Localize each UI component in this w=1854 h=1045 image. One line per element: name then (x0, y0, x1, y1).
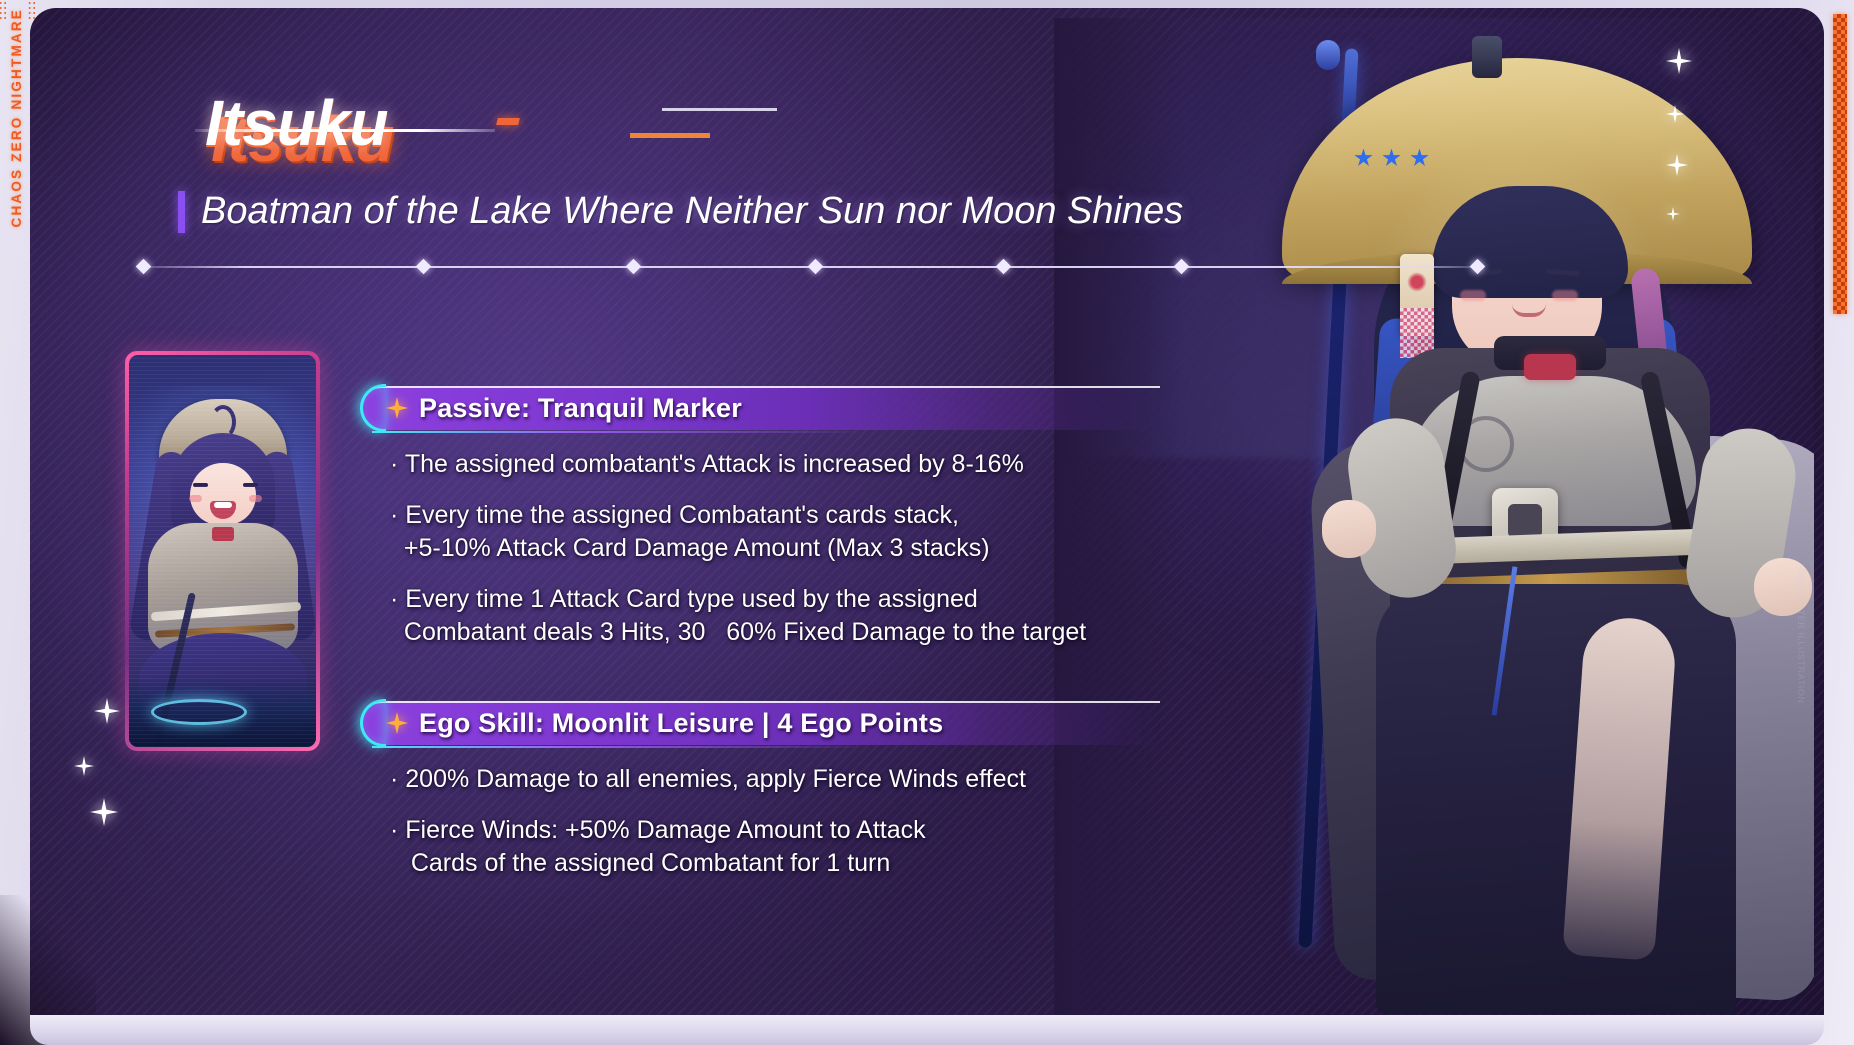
title-strike-line (195, 129, 495, 132)
title-decorative-rules (630, 108, 777, 138)
character-bow (1524, 354, 1576, 380)
character-skirt (1376, 584, 1736, 1014)
sparkle-icon (74, 756, 94, 776)
artwork-watermark: CHARACTER ILLUSTRATION (1796, 568, 1806, 704)
skills-spacer (360, 667, 1160, 701)
divider-diamond (136, 259, 152, 275)
skill-description-ego: · 200% Damage to all enemies, apply Fier… (360, 749, 1160, 880)
character-portrait-card[interactable] (125, 351, 320, 751)
divider-diamond (808, 259, 824, 275)
skill-description-passive: · The assigned combatant's Attack is inc… (360, 434, 1160, 649)
divider-diamond (416, 259, 432, 275)
portrait-scanlines (129, 355, 316, 747)
brand-strip-left: :::: CHAOS ZERO NIGHTMARE :::: (2, 0, 30, 420)
skills-panel: Passive: Tranquil Marker · The assigned … (360, 386, 1160, 898)
portrait-card-inner (129, 355, 316, 747)
skill-title-ego: Ego Skill: Moonlit Leisure | 4 Ego Point… (419, 708, 943, 739)
divider-diamond (626, 259, 642, 275)
straw-hat-knob (1472, 36, 1502, 78)
sparkle-icon (386, 712, 408, 734)
bottom-frame-bar (30, 1015, 1824, 1045)
character-hand-left (1322, 500, 1376, 558)
banner-underline (372, 431, 868, 433)
sparkle-icon (90, 798, 118, 826)
page-frame-inner: Itsuku Itsuku Boatman of the Lake Where … (30, 8, 1824, 1035)
skill-line: · Every time 1 Attack Card type used by … (390, 583, 1160, 649)
hat-star-decor (1354, 146, 1474, 170)
sparkle-icon (1666, 48, 1692, 79)
title-dash-mark (496, 118, 520, 125)
skill-banner-ego[interactable]: Ego Skill: Moonlit Leisure | 4 Ego Point… (360, 701, 1160, 745)
divider-diamond (1174, 259, 1190, 275)
character-blush-left (1460, 290, 1486, 301)
skill-banner-passive[interactable]: Passive: Tranquil Marker (360, 386, 1160, 430)
sparkle-icon (386, 397, 408, 419)
divider-diamond (1470, 259, 1486, 275)
character-blush-right (1552, 290, 1578, 301)
skill-line: · 200% Damage to all enemies, apply Fier… (390, 763, 1160, 796)
sparkle-cluster-right (1666, 48, 1692, 252)
sparkle-icon (1666, 154, 1692, 181)
sparkle-icon (1666, 207, 1692, 226)
character-epithet: Boatman of the Lake Where Neither Sun no… (201, 190, 1183, 233)
sparkle-icon (94, 698, 120, 724)
skill-line: · Fierce Winds: +50% Damage Amount to At… (390, 814, 1160, 880)
banner-left-cap (360, 699, 386, 747)
title-rule-orange (630, 133, 710, 138)
divider-diamond (996, 259, 1012, 275)
boat-pole-tip (1316, 40, 1340, 70)
checker-strip-right (1833, 14, 1847, 314)
character-detail-screen: Itsuku Itsuku Boatman of the Lake Where … (0, 0, 1854, 1045)
brand-dots-bottom: :::: (24, 0, 38, 20)
title-rule-white (662, 108, 777, 111)
banner-underline (372, 746, 868, 748)
brand-title-vertical: CHAOS ZERO NIGHTMARE (9, 8, 24, 228)
skill-line: · The assigned combatant's Attack is inc… (390, 448, 1160, 481)
sparkle-icon (1666, 105, 1692, 128)
brand-dots-top: :::: (0, 0, 9, 20)
character-epithet-row: Boatman of the Lake Where Neither Sun no… (178, 190, 1183, 233)
section-divider (138, 260, 1483, 274)
character-artwork (1054, 18, 1814, 1028)
skill-line: · Every time the assigned Combatant's ca… (390, 499, 1160, 565)
banner-left-cap (360, 384, 386, 432)
skill-title-passive: Passive: Tranquil Marker (419, 393, 742, 424)
epithet-accent-bar (178, 191, 185, 233)
page-title: Itsuku (205, 86, 387, 160)
